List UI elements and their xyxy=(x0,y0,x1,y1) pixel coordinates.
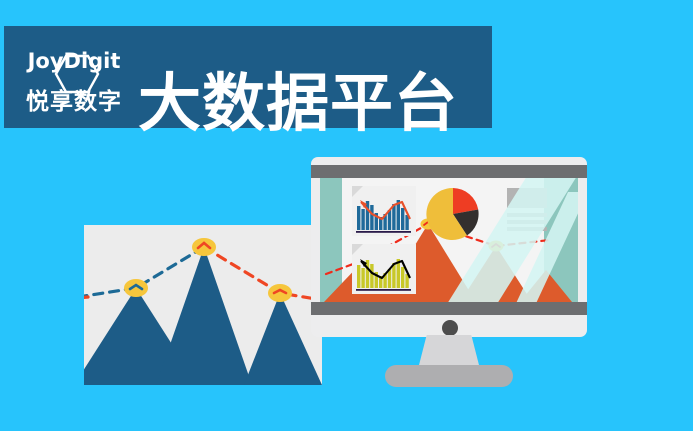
monitor-base xyxy=(385,365,513,387)
monitor-screen xyxy=(320,178,578,302)
power-button-icon[interactable] xyxy=(442,320,458,336)
logo-subtitle: 悦享数字 xyxy=(16,88,132,114)
monitor-stand xyxy=(418,335,480,369)
pie-slice-red xyxy=(453,188,478,214)
mountain-shapes xyxy=(84,247,322,385)
poster-canvas: JoyDigit 悦享数字 大数据平台 xyxy=(0,0,693,431)
mountain-chart-panel xyxy=(84,225,322,385)
monitor-top-bar xyxy=(311,165,587,178)
brand-logo: JoyDigit 悦享数字 xyxy=(16,30,132,124)
placeholder-line xyxy=(507,213,547,217)
bar-chart-card-blue xyxy=(352,186,416,236)
bar-chart-card-yellow xyxy=(352,244,416,294)
trend-line-red xyxy=(204,247,322,301)
monitor-bottom-bar xyxy=(311,302,587,315)
placeholder-line xyxy=(507,227,547,231)
placeholder-line xyxy=(507,220,547,224)
page-title: 大数据平台 xyxy=(138,71,458,137)
text-placeholder-block xyxy=(507,188,547,234)
header-banner: JoyDigit 悦享数字 大数据平台 xyxy=(4,26,492,128)
placeholder-heading-block xyxy=(507,188,547,208)
pie-chart xyxy=(426,187,480,241)
desktop-monitor xyxy=(311,157,587,389)
logo-wordmark: JoyDigit xyxy=(16,50,132,72)
